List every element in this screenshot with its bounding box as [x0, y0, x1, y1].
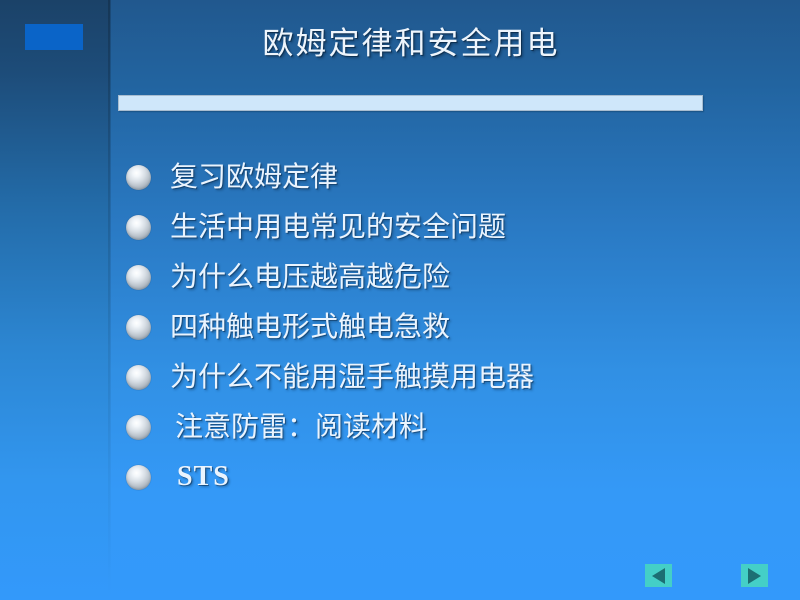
bullet-sphere-icon	[126, 265, 151, 290]
list-item-label: 生活中用电常见的安全问题	[170, 211, 506, 243]
bullet-sphere-icon	[126, 465, 151, 490]
list-item[interactable]: 复习欧姆定律	[126, 152, 786, 202]
slide-title: 欧姆定律和安全用电	[118, 26, 704, 61]
list-item[interactable]: 为什么电压越高越危险	[126, 252, 786, 302]
sidebar-edge-shadow	[108, 0, 111, 600]
list-item-label: 为什么不能用湿手触摸用电器	[170, 361, 534, 393]
list-item-label: 注意防雷：阅读材料	[175, 411, 427, 443]
presentation-slide: 欧姆定律和安全用电 复习欧姆定律 生活中用电常见的安全问题 为什么电压越高越危险…	[0, 0, 800, 600]
triangle-right-icon	[748, 568, 761, 584]
list-item[interactable]: 生活中用电常见的安全问题	[126, 202, 786, 252]
bullet-sphere-icon	[126, 165, 151, 190]
list-item-label: 复习欧姆定律	[170, 161, 338, 193]
bullet-sphere-icon	[126, 215, 151, 240]
list-item[interactable]: 为什么不能用湿手触摸用电器	[126, 352, 786, 402]
triangle-left-icon	[652, 568, 665, 584]
list-item-label: 四种触电形式触电急救	[170, 311, 450, 343]
list-item[interactable]: 四种触电形式触电急救	[126, 302, 786, 352]
slide-sidebar-strip	[0, 0, 110, 600]
bullet-list: 复习欧姆定律 生活中用电常见的安全问题 为什么电压越高越危险 四种触电形式触电急…	[126, 152, 786, 502]
list-item-label: 为什么电压越高越危险	[170, 261, 450, 293]
bullet-sphere-icon	[126, 365, 151, 390]
next-slide-button[interactable]	[741, 564, 768, 587]
bullet-sphere-icon	[126, 415, 151, 440]
title-divider-bar	[118, 95, 703, 111]
bullet-sphere-icon	[126, 315, 151, 340]
list-item-label: STS	[177, 461, 230, 493]
list-item[interactable]: STS	[126, 452, 786, 502]
list-item[interactable]: 注意防雷：阅读材料	[126, 402, 786, 452]
previous-slide-button[interactable]	[645, 564, 672, 587]
logo-placeholder	[25, 24, 83, 50]
